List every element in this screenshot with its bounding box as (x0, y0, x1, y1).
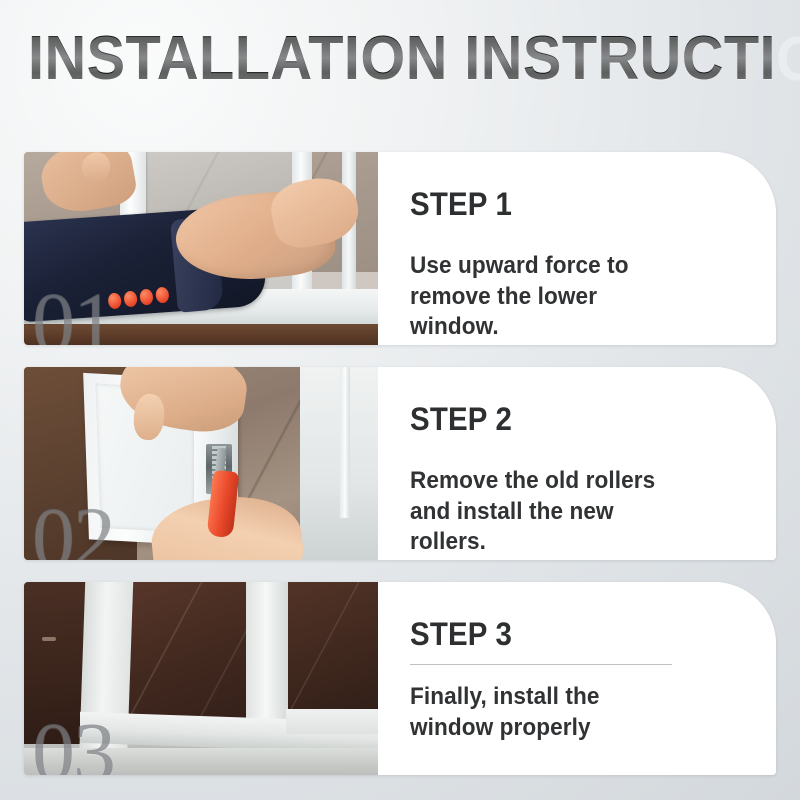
step-card-1: 01 STEP 1 Use upward force to remove the… (24, 152, 776, 345)
step-photo-2: 02 (24, 367, 378, 560)
step-card-2: 02 STEP 2 Remove the old rollers and ins… (24, 367, 776, 560)
step-card-3: 03 STEP 3 Finally, install the window pr… (24, 582, 776, 775)
step-description-3: Finally, install the window properly (410, 682, 688, 743)
step-text-1: STEP 1 Use upward force to remove the lo… (378, 152, 776, 345)
step-heading-2: STEP 2 (410, 403, 682, 435)
step-number-03: 03 (32, 709, 114, 775)
frame-bottom-rail-right (286, 709, 378, 734)
step-photo-1: 01 (24, 152, 378, 345)
step-number-01: 01 (32, 279, 114, 345)
step-heading-1: STEP 1 (410, 188, 682, 220)
step-number-02: 02 (32, 494, 114, 560)
step-photo-3: 03 (24, 582, 378, 775)
step-divider-3 (410, 664, 672, 665)
step-description-1: Use upward force to remove the lower win… (410, 251, 688, 343)
step-heading-3: STEP 3 (410, 618, 682, 650)
step-text-2: STEP 2 Remove the old rollers and instal… (378, 367, 776, 560)
right-window-frame (340, 367, 350, 518)
page-title: INSTALLATION INSTRUCTIONS (28, 28, 772, 90)
window-pane-left (128, 582, 248, 721)
window-pane-right (286, 582, 378, 713)
step-description-2: Remove the old rollers and install the n… (410, 466, 688, 558)
step-text-3: STEP 3 Finally, install the window prope… (378, 582, 776, 775)
